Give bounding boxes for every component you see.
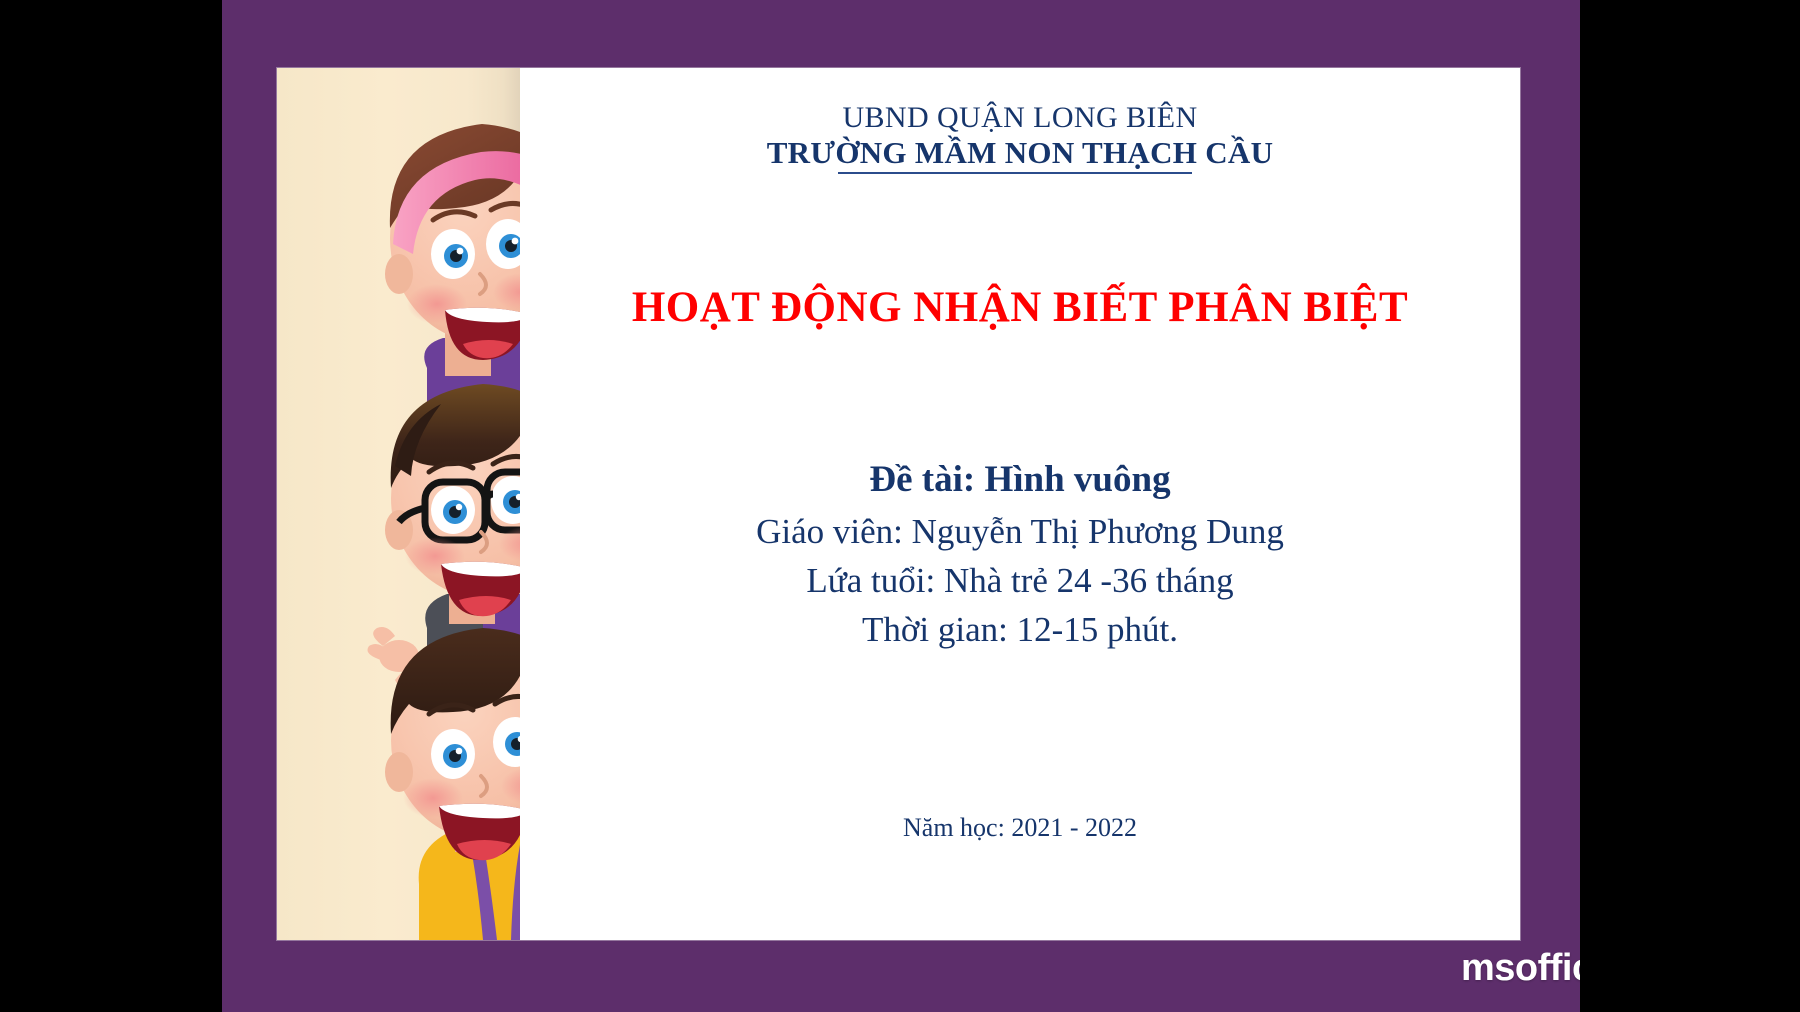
three-children-illustration — [277, 68, 520, 940]
school-name-text: TRƯỜNG MẦM NON THẠCH CẦU — [767, 135, 1274, 170]
organization-line: UBND QUẬN LONG BIÊN — [520, 100, 1520, 135]
child-girl-with-headband — [385, 124, 520, 413]
child-boy-with-backpack — [385, 628, 520, 940]
slide-header: UBND QUẬN LONG BIÊN TRƯỜNG MẦM NON THẠCH… — [520, 68, 1520, 172]
slide-background: UBND QUẬN LONG BIÊN TRƯỜNG MẦM NON THẠCH… — [222, 0, 1580, 1012]
illustration-strip — [277, 68, 520, 940]
letterbox-bar-right — [1580, 0, 1800, 1012]
school-year: Năm học: 2021 - 2022 — [520, 813, 1520, 843]
slide-canvas: UBND QUẬN LONG BIÊN TRƯỜNG MẦM NON THẠCH… — [0, 0, 1800, 1012]
age-group: Lứa tuổi: Nhà trẻ 24 -36 tháng — [520, 556, 1520, 605]
lesson-info-block: Đề tài: Hình vuông Giáo viên: Nguyễn Thị… — [520, 453, 1520, 654]
lesson-topic: Đề tài: Hình vuông — [520, 453, 1520, 507]
slide-content-card: UBND QUẬN LONG BIÊN TRƯỜNG MẦM NON THẠCH… — [277, 68, 1520, 940]
main-title: HOẠT ĐỘNG NHẬN BIẾT PHÂN BIỆT — [520, 283, 1520, 332]
letterbox-bar-left — [0, 0, 222, 1012]
school-name-underline — [838, 172, 1193, 174]
school-name-line: TRƯỜNG MẦM NON THẠCH CẦU — [767, 135, 1274, 172]
teacher-name: Giáo viên: Nguyễn Thị Phương Dung — [520, 507, 1520, 556]
lesson-duration: Thời gian: 12-15 phút. — [520, 605, 1520, 654]
